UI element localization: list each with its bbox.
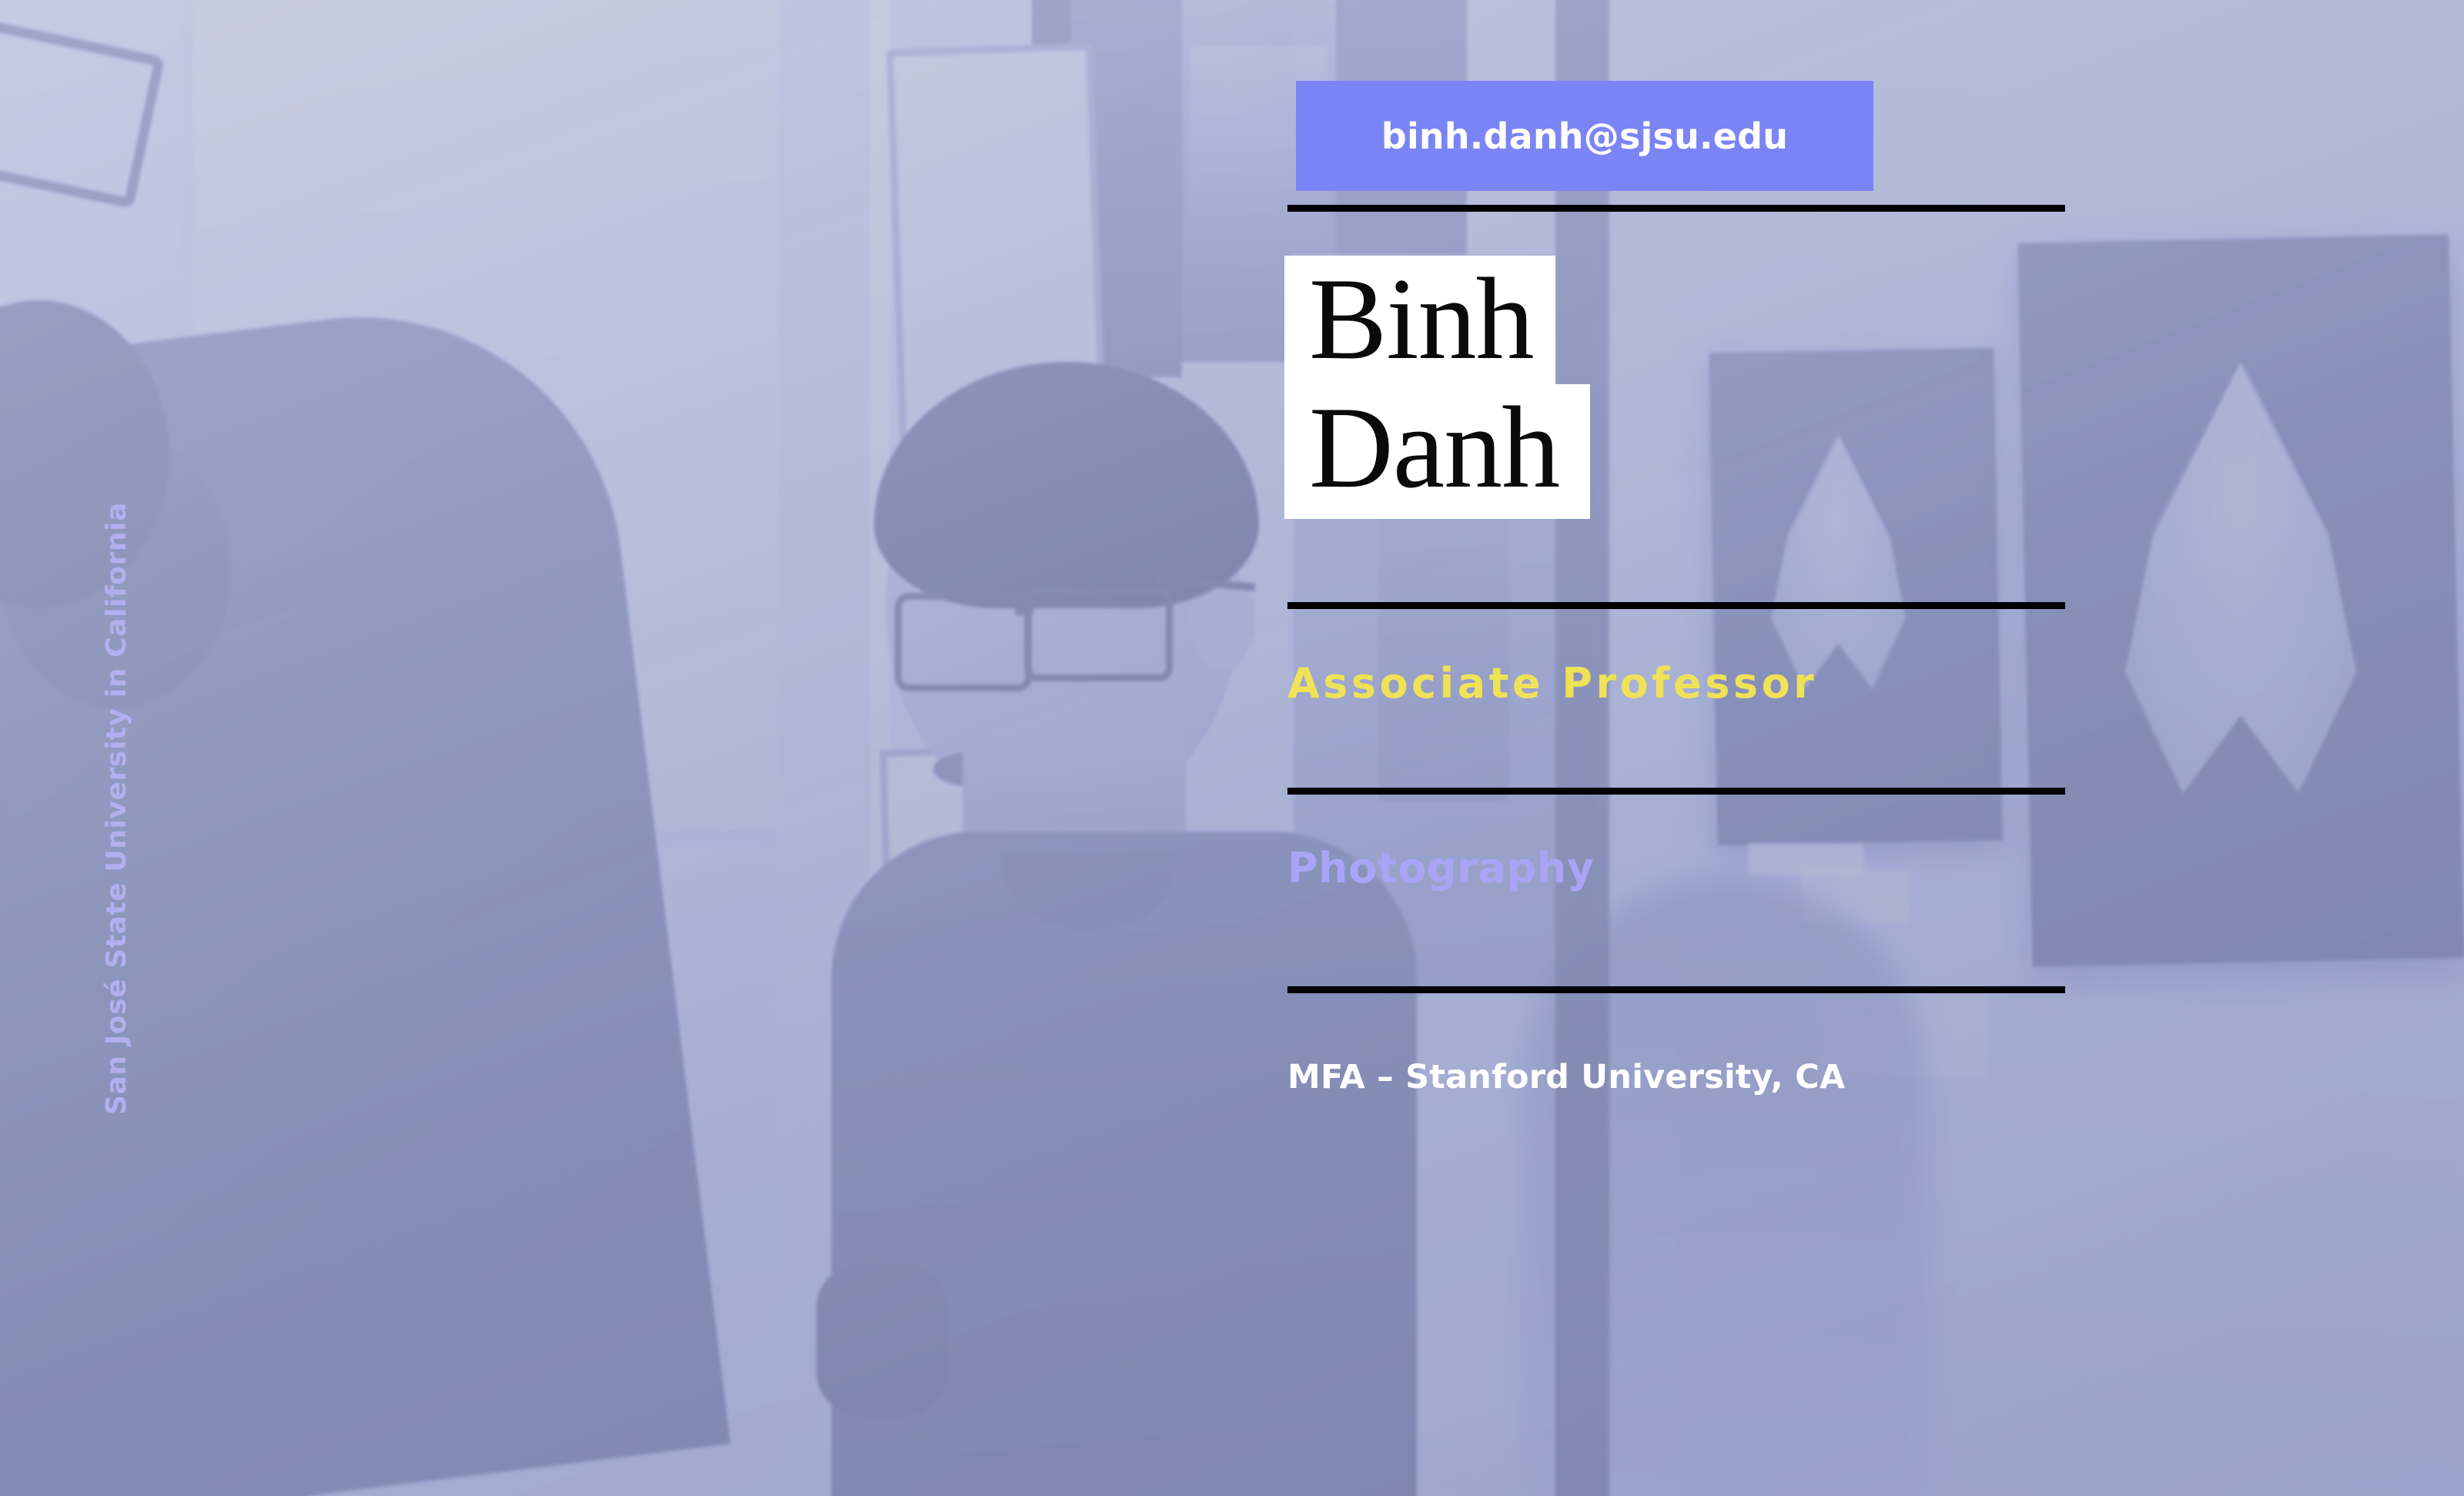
email-text: binh.danh@sjsu.edu [1381,115,1788,157]
slide-root: binh.danh@sjsu.edu Binh Danh Associate P… [0,0,2464,1496]
divider-rule-under-name [1287,602,2065,609]
affiliation-vertical-label: San José State University in California [101,502,132,1115]
discipline-label: Photography [1287,844,1595,892]
degree-line: MFA – Stanford University, CA [1287,1058,1846,1096]
divider-rule-top [1287,205,2065,212]
email-badge[interactable]: binh.danh@sjsu.edu [1296,81,1873,191]
slide-content: binh.danh@sjsu.edu Binh Danh Associate P… [0,0,2464,1496]
role-title: Associate Professor [1287,659,1817,708]
divider-rule-under-discipline [1287,986,2065,993]
divider-rule-under-role [1287,788,2065,795]
name-first-line: Binh [1284,256,1555,390]
presenter-name: Binh Danh [1284,256,1590,519]
name-last-line: Danh [1284,384,1590,519]
